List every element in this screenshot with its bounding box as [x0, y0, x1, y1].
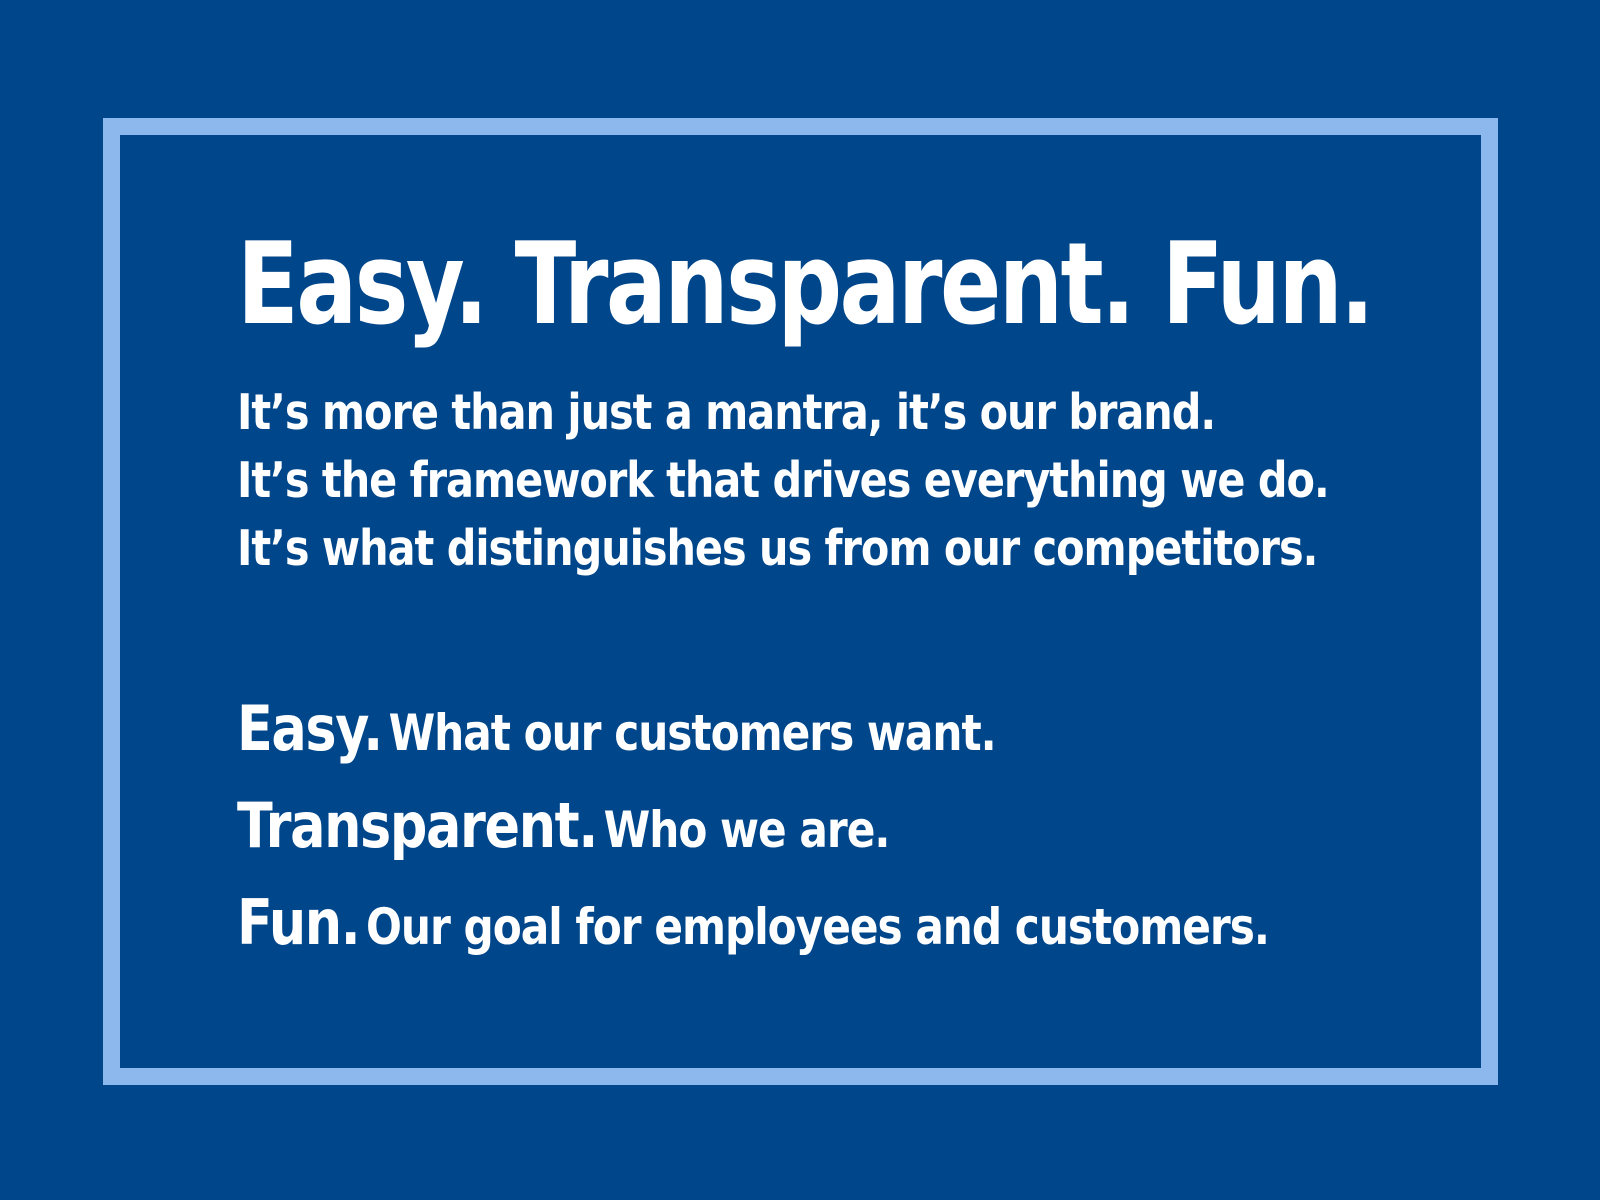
- intro-line: It’s what distinguishes us from our comp…: [237, 515, 1217, 583]
- pillar-term: Transparent.: [237, 789, 597, 862]
- pillar-item-easy: Easy.What our customers want.: [237, 688, 1217, 785]
- slide-canvas: Easy. Transparent. Fun. It’s more than j…: [0, 0, 1600, 1200]
- pillar-description: Who we are.: [604, 801, 890, 859]
- pillar-term: Easy.: [237, 692, 382, 765]
- intro-line: It’s the framework that drives everythin…: [237, 447, 1217, 515]
- pillar-description: Our goal for employees and customers.: [366, 898, 1269, 956]
- pillar-list: Easy.What our customers want. Transparen…: [237, 688, 1397, 979]
- page-title: Easy. Transparent. Fun.: [237, 228, 1165, 341]
- pillar-description: What our customers want.: [389, 704, 996, 762]
- intro-paragraph: It’s more than just a mantra, it’s our b…: [237, 379, 1397, 583]
- slide-content: Easy. Transparent. Fun. It’s more than j…: [237, 228, 1397, 979]
- pillar-item-transparent: Transparent.Who we are.: [237, 785, 1217, 882]
- pillar-term: Fun.: [237, 886, 359, 959]
- pillar-item-fun: Fun.Our goal for employees and customers…: [237, 882, 1217, 979]
- intro-line: It’s more than just a mantra, it’s our b…: [237, 379, 1217, 447]
